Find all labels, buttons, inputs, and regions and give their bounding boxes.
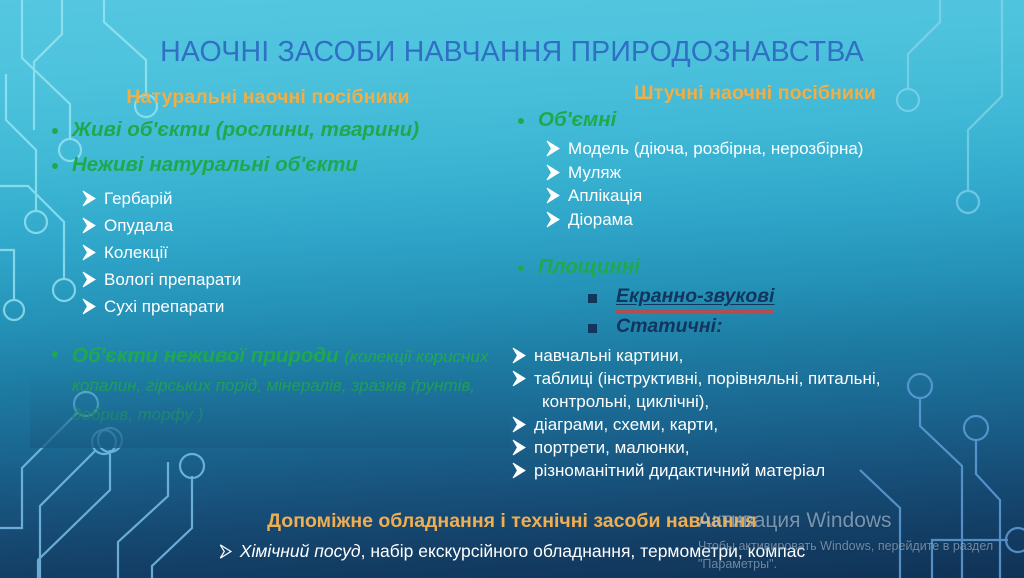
chevron-right-icon <box>82 298 98 315</box>
left-bullet-2-label: Неживі натуральні об'єкти <box>72 153 358 176</box>
right-group1-item-label: Діорама <box>568 210 633 229</box>
right-group2-item: різноманітний дидактичний матеріал <box>508 460 988 483</box>
left-sub-item-label: Вологі препарати <box>104 270 241 289</box>
left-sub-item: Вологі препарати <box>42 269 512 292</box>
right-group2-item: портрети, малюнки, <box>508 437 988 460</box>
left-sub-item: Колекції <box>42 242 512 265</box>
right-group2-item-label: навчальні картини, <box>534 346 683 365</box>
chevron-right-icon <box>82 244 98 261</box>
right-group1-label: Об'ємні <box>508 108 988 132</box>
left-sub-item: Опудала <box>42 215 512 238</box>
chevron-right-icon <box>546 140 562 157</box>
right-group2-item: таблиці (інструктивні, порівняльні, пита… <box>508 368 988 414</box>
right-group2-item-label: портрети, малюнки, <box>534 438 689 457</box>
chevron-right-icon <box>82 271 98 288</box>
chevron-right-icon <box>512 416 528 433</box>
left-bullet-2: Неживі натуральні об'єкти <box>42 153 512 177</box>
chevron-right-icon <box>546 164 562 181</box>
right-group2-label-text: Площинні <box>538 255 640 278</box>
left-sub-item-label: Гербарій <box>104 189 173 208</box>
right-group1-item-label: Модель (діюча, розбірна, нерозбірна) <box>568 139 863 158</box>
right-group2-label: Площинні <box>508 255 988 279</box>
right-column-body: Об'ємні Модель (діюча, розбірна, нерозбі… <box>508 108 988 483</box>
chevron-right-icon <box>512 347 528 364</box>
left-sub-item-label: Опудала <box>104 216 173 235</box>
left-faded-bullet-lead: Об'єкти неживої природи <box>72 344 339 367</box>
left-bullet-1-label: Живі об'єкти (рослини, тварини) <box>72 118 419 141</box>
right-group1-label-text: Об'ємні <box>538 108 616 131</box>
chevron-right-icon <box>219 544 234 559</box>
right-group1-item: Муляж <box>508 162 988 185</box>
chevron-right-icon <box>512 462 528 479</box>
right-group2-item-continuation: контрольні, циклічні), <box>534 391 988 414</box>
right-group1-item-label: Муляж <box>568 163 621 182</box>
chevron-right-icon <box>82 190 98 207</box>
chevron-right-icon <box>82 217 98 234</box>
left-column-heading: Натуральні наочні посібники <box>18 86 518 109</box>
right-subheading-static-label: Статичні: <box>616 315 723 337</box>
right-group2-item-label: діаграми, схеми, карти, <box>534 415 718 434</box>
watermark-subtitle: Чтобы активировать Windows, перейдите в … <box>698 537 998 573</box>
left-sub-item: Сухі препарати <box>42 296 512 319</box>
bottom-line-italic: Хімічний посуд <box>240 541 361 561</box>
slide-title: НАОЧНІ ЗАСОБИ НАВЧАННЯ ПРИРОДОЗНАВСТВА <box>0 36 1024 69</box>
left-bullet-1: Живі об'єкти (рослини, тварини) <box>42 118 512 142</box>
right-group1-item: Аплікація <box>508 185 988 208</box>
right-group2-item-label: різноманітний дидактичний матеріал <box>534 461 825 480</box>
right-group2-item: діаграми, схеми, карти, <box>508 414 988 437</box>
slide-canvas: НАОЧНІ ЗАСОБИ НАВЧАННЯ ПРИРОДОЗНАВСТВА Н… <box>0 0 1024 578</box>
right-group1-item: Діорама <box>508 209 988 232</box>
right-subheading-screen-sound: Екранно-звукові <box>508 285 988 308</box>
chevron-right-icon <box>512 370 528 387</box>
chevron-right-icon <box>546 211 562 228</box>
right-group2-item: навчальні картини, <box>508 345 988 368</box>
windows-activation-watermark: Активация Windows Чтобы активировать Win… <box>698 508 998 573</box>
watermark-title: Активация Windows <box>698 508 998 533</box>
chevron-right-icon <box>512 439 528 456</box>
chevron-right-icon <box>546 187 562 204</box>
left-column-body: Живі об'єкти (рослини, тварини) Неживі н… <box>42 118 512 428</box>
left-sub-item-label: Сухі препарати <box>104 297 224 316</box>
left-sub-item: Гербарій <box>42 188 512 211</box>
spellcheck-underline <box>616 309 774 314</box>
right-subheading-static: Статичні: <box>508 315 988 338</box>
left-faded-bullet: Об'єкти неживої природи (колекції корисн… <box>42 341 512 428</box>
right-group1-item-label: Аплікація <box>568 186 642 205</box>
right-group1-item: Модель (діюча, розбірна, нерозбірна) <box>508 138 988 161</box>
left-sub-item-label: Колекції <box>104 243 168 262</box>
right-column-heading: Штучні наочні посібники <box>515 82 995 105</box>
right-subheading-screen-sound-label: Екранно-звукові <box>616 285 774 307</box>
right-group2-item-label: таблиці (інструктивні, порівняльні, пита… <box>534 369 880 388</box>
